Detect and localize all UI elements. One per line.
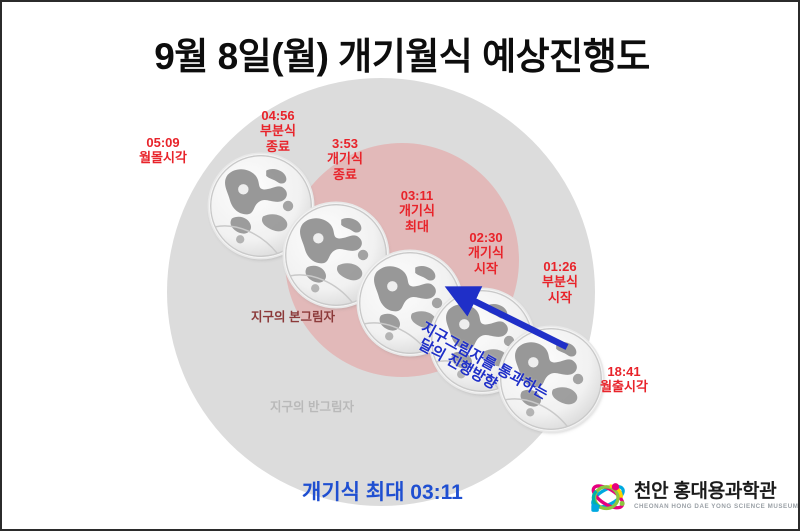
penumbra-label: 지구의 반그림자	[270, 396, 354, 415]
logo-text-block: 천안 홍대용과학관 CHEONAN HONG DAE YONG SCIENCE …	[634, 482, 798, 510]
caption-maximum-time: 개기식 최대 03:11	[302, 476, 463, 506]
event-name-line1: 개기식	[446, 245, 526, 260]
event-time: 03:11	[377, 188, 457, 203]
event-name-line1: 월몰시각	[123, 150, 203, 165]
event-time: 04:56	[238, 108, 318, 123]
event-callout-maximum: 03:11 개기식 최대	[377, 188, 457, 234]
event-callout-moonrise: 18:41 월출시각	[584, 364, 664, 395]
event-name-line1: 개기식	[305, 151, 385, 166]
event-time: 05:09	[123, 135, 203, 150]
event-name-line1: 월출시각	[584, 379, 664, 394]
event-name-line2: 시작	[446, 261, 526, 276]
event-callout-total-start: 02:30 개기식 시작	[446, 230, 526, 276]
event-name-line2: 종료	[305, 167, 385, 182]
event-callout-moonset: 05:09 월몰시각	[123, 135, 203, 166]
museum-logo: 천안 홍대용과학관 CHEONAN HONG DAE YONG SCIENCE …	[588, 476, 798, 516]
umbra-label: 지구의 본그림자	[251, 306, 335, 325]
event-name-line2: 시작	[520, 290, 600, 305]
event-callout-partial-start: 01:26 부분식 시작	[520, 259, 600, 305]
page-title: 9월 8일(월) 개기월식 예상진행도	[2, 26, 800, 80]
event-name-line1: 부분식	[520, 274, 600, 289]
event-name-line1: 개기식	[377, 203, 457, 218]
event-time: 18:41	[584, 364, 664, 379]
logo-subtitle: CHEONAN HONG DAE YONG SCIENCE MUSEUM	[634, 504, 798, 510]
eclipse-infographic: 9월 8일(월) 개기월식 예상진행도 지구의 본그림자 지구의 반그림자	[0, 0, 800, 531]
event-name-line2: 최대	[377, 219, 457, 234]
atom-orbit-icon	[588, 476, 628, 516]
event-callout-total-end: 3:53 개기식 종료	[305, 136, 385, 182]
event-time: 01:26	[520, 259, 600, 274]
event-time: 3:53	[305, 136, 385, 151]
event-time: 02:30	[446, 230, 526, 245]
logo-name: 천안 홍대용과학관	[634, 482, 798, 501]
